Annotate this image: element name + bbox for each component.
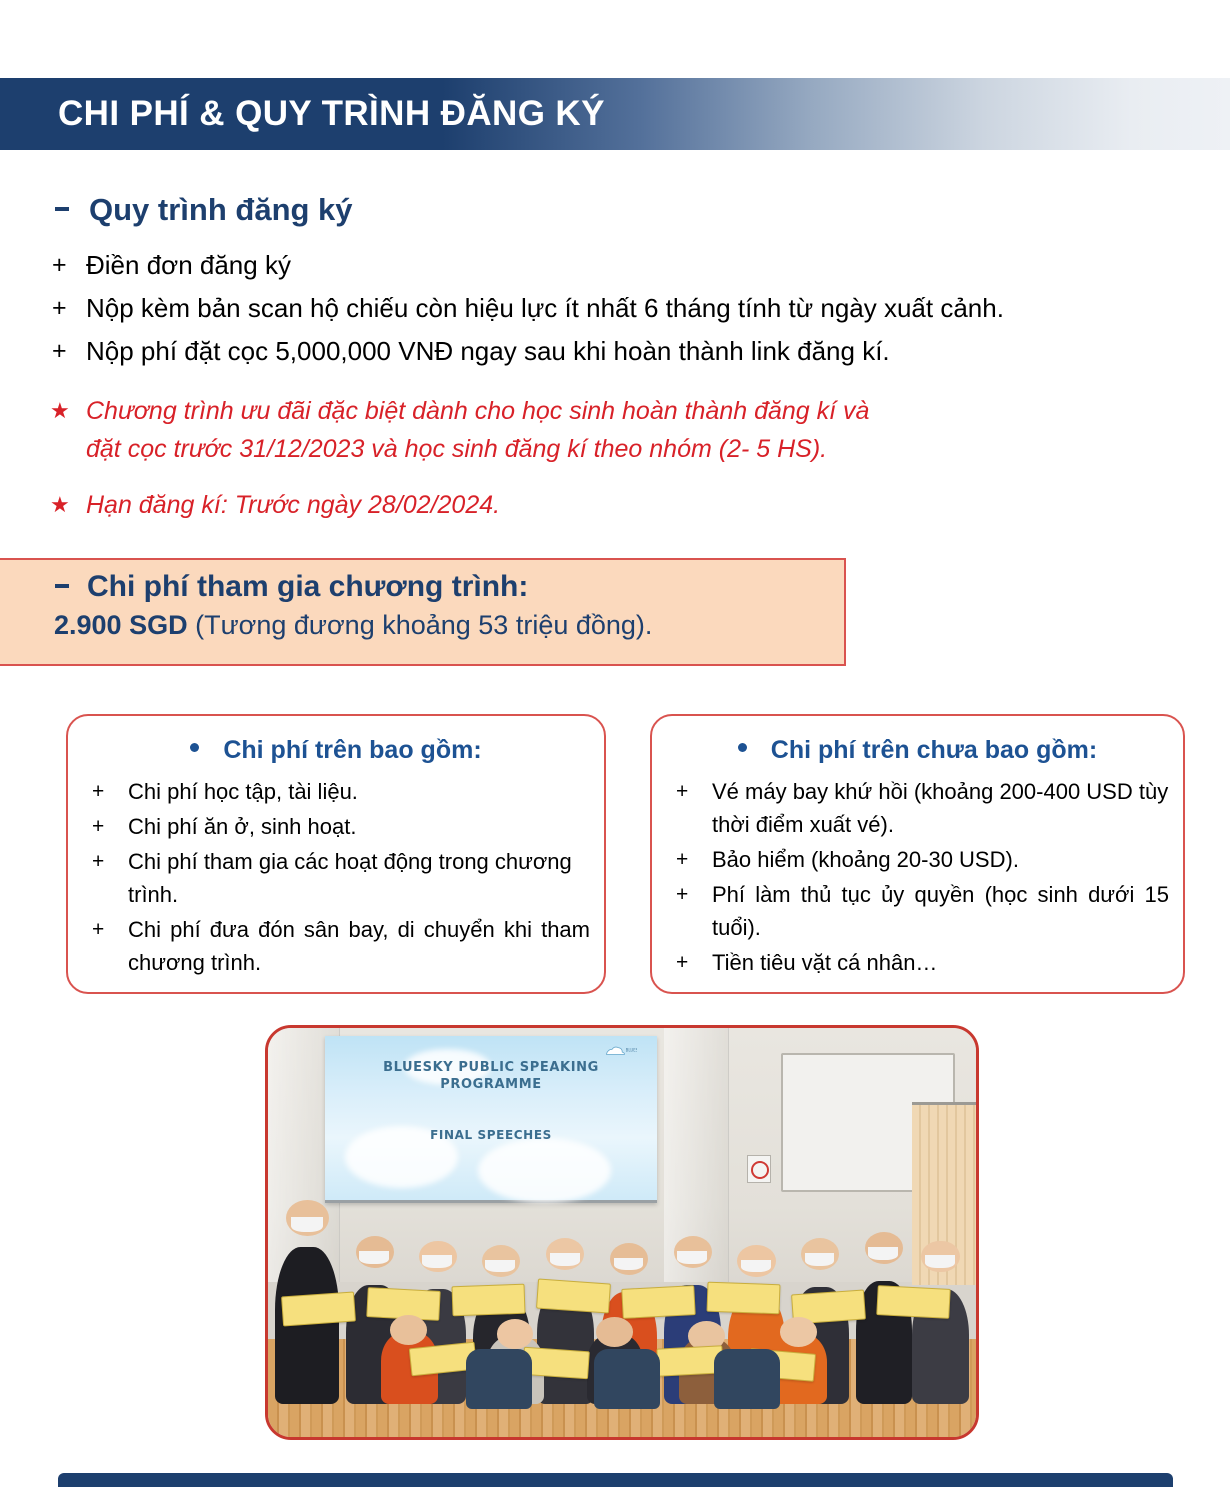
excluded-costs-title: Chi phí trên chưa bao gồm: <box>771 736 1097 765</box>
no-smoking-sign-icon <box>747 1155 771 1183</box>
dash-bullet-icon <box>55 207 69 211</box>
included-costs-card: Chi phí trên bao gồm: + Chi phí học tập,… <box>66 714 606 994</box>
bullet-dot-icon <box>190 743 199 752</box>
projector-screen: BLUESKY BLUESKY PUBLIC SPEAKING PROGRAMM… <box>325 1036 658 1203</box>
registration-step-text: Điền đơn đăng ký <box>86 248 291 282</box>
registration-process-heading: Quy trình đăng ký <box>55 192 353 228</box>
certificate <box>536 1278 611 1313</box>
screen-caption-line-1: BLUESKY PUBLIC SPEAKING PROGRAMME <box>325 1059 658 1093</box>
program-cost-title: Chi phí tham gia chương trình: <box>87 570 528 604</box>
screen-caption-text-1: BLUESKY PUBLIC SPEAKING <box>383 1060 599 1075</box>
group-photo-scene: BLUESKY BLUESKY PUBLIC SPEAKING PROGRAMM… <box>268 1028 976 1437</box>
registration-process-heading-label: Quy trình đăng ký <box>89 192 353 228</box>
list-item: + Chi phí ăn ở, sinh hoạt. <box>92 810 590 843</box>
promotion-notes: ★ Chương trình ưu đãi đặc biệt dành cho … <box>50 392 1130 542</box>
page-title: CHI PHÍ & QUY TRÌNH ĐĂNG KÝ <box>58 94 605 134</box>
group-photo: BLUESKY BLUESKY PUBLIC SPEAKING PROGRAMM… <box>265 1025 979 1440</box>
screen-caption-line-3: FINAL SPEECHES <box>325 1128 658 1142</box>
plus-icon: + <box>92 845 128 878</box>
face-mask <box>741 1260 771 1273</box>
face-mask <box>868 1247 898 1260</box>
deadline-note-text: Hạn đăng kí: Trước ngày 28/02/2024. <box>86 486 500 524</box>
list-item: + Chi phí đưa đón sân bay, di chuyển khi… <box>92 913 590 979</box>
certificate <box>706 1282 780 1314</box>
face-mask <box>677 1251 707 1264</box>
star-icon: ★ <box>50 486 86 524</box>
plus-icon: + <box>676 775 712 808</box>
certificate <box>452 1284 526 1316</box>
included-cost-text: Chi phí học tập, tài liệu. <box>128 775 358 808</box>
face-mask <box>359 1251 389 1264</box>
registration-step-text: Nộp phí đặt cọc 5,000,000 VNĐ ngay sau k… <box>86 334 890 368</box>
chair <box>594 1349 660 1409</box>
included-cost-text: Chi phí đưa đón sân bay, di chuyển khi t… <box>128 913 590 979</box>
plus-icon: + <box>676 878 712 911</box>
included-costs-title: Chi phí trên bao gồm: <box>223 736 481 765</box>
included-cost-text: Chi phí ăn ở, sinh hoạt. <box>128 810 356 843</box>
list-item: ★ Chương trình ưu đãi đặc biệt dành cho … <box>50 392 1130 468</box>
list-item: + Phí làm thủ tục ủy quyền (học sinh dướ… <box>676 878 1169 944</box>
face-mask <box>291 1217 324 1232</box>
program-cost-title-row: Chi phí tham gia chương trình: <box>55 570 844 604</box>
list-item: + Bảo hiểm (khoảng 20-30 USD). <box>676 843 1169 876</box>
list-item: ★ Hạn đăng kí: Trước ngày 28/02/2024. <box>50 486 1130 524</box>
face-mask <box>805 1253 835 1266</box>
person-head <box>390 1315 427 1345</box>
students-crowd <box>268 1192 976 1405</box>
promotion-note-line2: đặt cọc trước 31/12/2023 và học sinh đăn… <box>86 435 827 463</box>
certificate <box>281 1291 356 1326</box>
person-head <box>780 1317 817 1347</box>
plus-icon: + <box>52 334 86 368</box>
excluded-cost-text: Tiền tiêu vặt cá nhân… <box>712 946 937 979</box>
excluded-costs-title-row: Chi phí trên chưa bao gồm: <box>652 736 1183 765</box>
plus-icon: + <box>92 913 128 946</box>
dash-bullet-icon <box>55 584 69 588</box>
bluesky-logo-icon: BLUESKY <box>603 1044 637 1058</box>
plus-icon: + <box>676 946 712 979</box>
list-item: + Chi phí tham gia các hoạt động trong c… <box>92 845 590 911</box>
certificate <box>876 1285 950 1318</box>
page-header-bar: CHI PHÍ & QUY TRÌNH ĐĂNG KÝ <box>0 78 1230 150</box>
star-icon: ★ <box>50 392 86 430</box>
plus-icon: + <box>52 248 86 282</box>
included-costs-title-row: Chi phí trên bao gồm: <box>68 736 604 765</box>
excluded-cost-text: Vé máy bay khứ hồi (khoảng 200-400 USD t… <box>712 775 1169 841</box>
face-mask <box>550 1253 580 1266</box>
certificate <box>522 1347 589 1379</box>
face-mask <box>485 1260 515 1273</box>
registration-steps-list: + Điền đơn đăng ký + Nộp kèm bản scan hộ… <box>52 248 1192 377</box>
page-footer-bar <box>58 1473 1173 1487</box>
person-head <box>596 1317 633 1347</box>
excluded-costs-list: + Vé máy bay khứ hồi (khoảng 200-400 USD… <box>652 775 1183 979</box>
list-item: + Nộp kèm bản scan hộ chiếu còn hiệu lực… <box>52 291 1192 325</box>
list-item: + Tiền tiêu vặt cá nhân… <box>676 946 1169 979</box>
list-item: + Vé máy bay khứ hồi (khoảng 200-400 USD… <box>676 775 1169 841</box>
program-cost-amount: 2.900 SGD <box>54 610 188 640</box>
chair <box>466 1349 532 1409</box>
excluded-costs-card: Chi phí trên chưa bao gồm: + Vé máy bay … <box>650 714 1185 994</box>
face-mask <box>422 1255 452 1268</box>
chair <box>714 1349 780 1409</box>
included-cost-text: Chi phí tham gia các hoạt động trong chư… <box>128 845 590 911</box>
promotion-note-line1: Chương trình ưu đãi đặc biệt dành cho họ… <box>86 397 869 425</box>
plus-icon: + <box>52 291 86 325</box>
program-cost-note: (Tương đương khoảng 53 triệu đồng). <box>188 610 653 640</box>
plus-icon: + <box>92 775 128 808</box>
excluded-cost-text: Bảo hiểm (khoảng 20-30 USD). <box>712 843 1019 876</box>
face-mask <box>614 1258 644 1271</box>
program-cost-value-row: 2.900 SGD (Tương đương khoảng 53 triệu đ… <box>54 610 844 641</box>
screen-caption-text-2: PROGRAMME <box>440 1077 542 1092</box>
face-mask <box>925 1255 955 1268</box>
svg-text:BLUESKY: BLUESKY <box>626 1048 637 1053</box>
list-item: + Điền đơn đăng ký <box>52 248 1192 282</box>
list-item: + Nộp phí đặt cọc 5,000,000 VNĐ ngay sau… <box>52 334 1192 368</box>
promotion-note-text: Chương trình ưu đãi đặc biệt dành cho họ… <box>86 392 869 468</box>
registration-step-text: Nộp kèm bản scan hộ chiếu còn hiệu lực í… <box>86 291 1004 325</box>
program-cost-box: Chi phí tham gia chương trình: 2.900 SGD… <box>0 558 846 666</box>
included-costs-list: + Chi phí học tập, tài liệu. + Chi phí ă… <box>68 775 604 979</box>
person-head <box>497 1319 534 1349</box>
plus-icon: + <box>676 843 712 876</box>
bullet-dot-icon <box>738 743 747 752</box>
list-item: + Chi phí học tập, tài liệu. <box>92 775 590 808</box>
certificate <box>621 1285 695 1318</box>
plus-icon: + <box>92 810 128 843</box>
excluded-cost-text: Phí làm thủ tục ủy quyền (học sinh dưới … <box>712 878 1169 944</box>
